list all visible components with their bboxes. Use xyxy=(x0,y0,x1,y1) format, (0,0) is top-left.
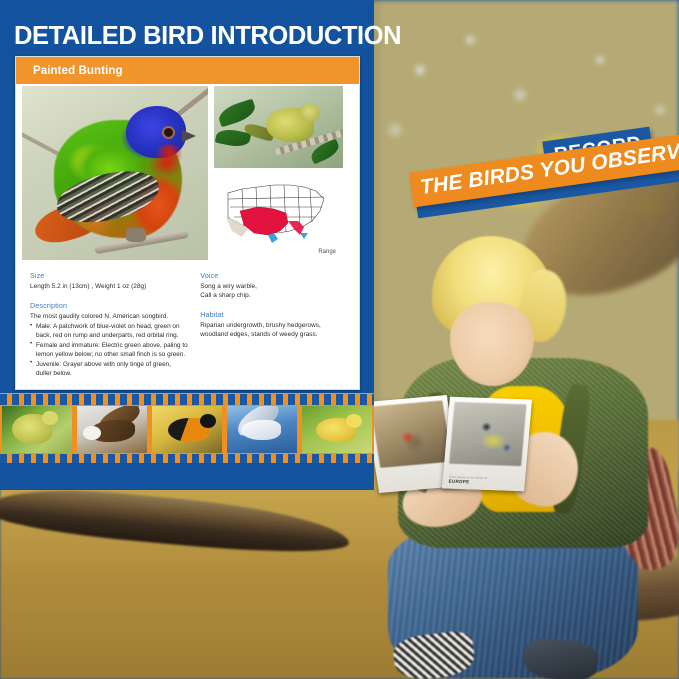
range-map-svg xyxy=(220,177,337,249)
book-caption: Field Guide to the Birds of EUROPE xyxy=(448,476,487,485)
voice-text: Song a wiry warble, Call a sharp chip. xyxy=(200,282,349,300)
size-heading: Size xyxy=(30,271,188,280)
bird-book: Field Guide to the Birds of EUROPE xyxy=(372,398,532,500)
filmstrip-frame-baltimore-oriole xyxy=(152,406,222,453)
eagle-head xyxy=(83,426,101,440)
card-header: Painted Bunting xyxy=(16,57,359,84)
description-intro: The most gaudily colored N. American son… xyxy=(30,312,188,321)
list-item: Juvenile: Grayer above with only tinge o… xyxy=(30,360,188,378)
description-heading: Description xyxy=(30,301,188,310)
book-caption-main: EUROPE xyxy=(448,479,469,485)
poster-root: Field Guide to the Birds of EUROPE RECOR… xyxy=(0,0,679,679)
habitat-text: Riparian undergrowth, brushy hedgerows, … xyxy=(200,321,349,339)
filmstrip-frames xyxy=(0,406,374,453)
range-map: Size Range xyxy=(214,173,343,259)
filmstrip-frame-green-finch xyxy=(2,406,72,453)
yellow-oriole-head xyxy=(346,414,362,428)
page-title: DETAILED BIRD INTRODUCTION xyxy=(14,22,401,51)
card-header-title: Painted Bunting xyxy=(33,65,123,77)
list-item: Male: A patchwork of blue-violet on head… xyxy=(30,322,188,340)
card-left-text-column: Size Length 5.2 in (13cm) , Weight 1 oz … xyxy=(30,271,188,378)
leaf-decor-1 xyxy=(216,99,258,128)
robin-photo xyxy=(371,400,453,468)
card-media-right-column: Size Range xyxy=(214,86,343,263)
male-bunting-photo xyxy=(22,86,208,260)
female-bunting-photo xyxy=(214,86,343,168)
female-head xyxy=(300,104,320,122)
tern-body xyxy=(241,420,281,440)
filmstrip-sprockets-top xyxy=(0,394,374,405)
filmstrip-frame-bald-eagle xyxy=(77,406,147,453)
size-text: Length 5.2 in (13cm) , Weight 1 oz (28g) xyxy=(30,282,188,291)
bunting-beak xyxy=(182,130,196,142)
bottom-blue-strip xyxy=(0,463,374,490)
list-item: Female and immature: Electric green abov… xyxy=(30,341,188,359)
bunting-feet xyxy=(126,228,146,242)
book-right-page: Field Guide to the Birds of EUROPE xyxy=(442,397,532,492)
range-shaded-region xyxy=(240,207,288,235)
great-tit-photo xyxy=(449,402,526,466)
bunting-red-throat xyxy=(156,144,182,166)
filmstrip-frame-yellow-oriole xyxy=(302,406,372,453)
left-blue-panel: DETAILED BIRD INTRODUCTION Painted Bunti… xyxy=(0,0,374,470)
card-media-row: Size Range xyxy=(16,84,359,263)
filmstrip-frame-tern xyxy=(227,406,297,453)
map-range-caption: Range xyxy=(318,249,336,255)
green-finch-head xyxy=(42,411,58,425)
card-right-text-column: Voice Song a wiry warble, Call a sharp c… xyxy=(200,271,349,378)
oriole-head xyxy=(200,414,216,428)
bunting-eye xyxy=(164,128,173,137)
description-bullet-list: Male: A patchwork of blue-violet on head… xyxy=(30,322,188,378)
bird-info-card: Painted Bunting xyxy=(15,56,360,390)
bird-filmstrip xyxy=(0,393,374,466)
card-text-body: Size Length 5.2 in (13cm) , Weight 1 oz … xyxy=(16,263,359,378)
habitat-heading: Habitat xyxy=(200,310,349,319)
voice-heading: Voice xyxy=(200,271,349,280)
